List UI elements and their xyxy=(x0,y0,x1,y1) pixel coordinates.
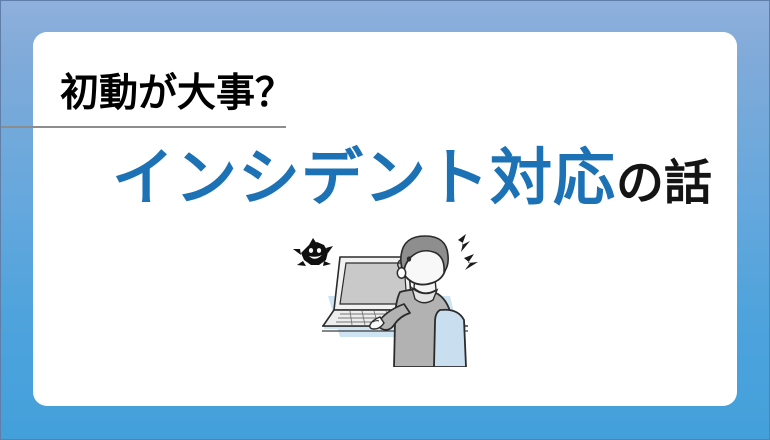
presentation-slide: 初動が大事？ インシデント対応の話 xyxy=(0,0,770,440)
malware-blob-icon xyxy=(293,238,333,266)
title-divider-rule xyxy=(0,126,286,128)
shock-marks xyxy=(458,234,478,270)
chair-shape xyxy=(434,310,466,367)
slide-kicker-text: 初動が大事？ xyxy=(60,74,294,113)
page-title-suffix: の話 xyxy=(616,157,712,210)
page-title-main: インシデント対応 xyxy=(112,144,616,213)
illustration-person-shocked-at-laptop xyxy=(288,232,488,367)
page-title: インシデント対応の話 xyxy=(112,148,712,210)
